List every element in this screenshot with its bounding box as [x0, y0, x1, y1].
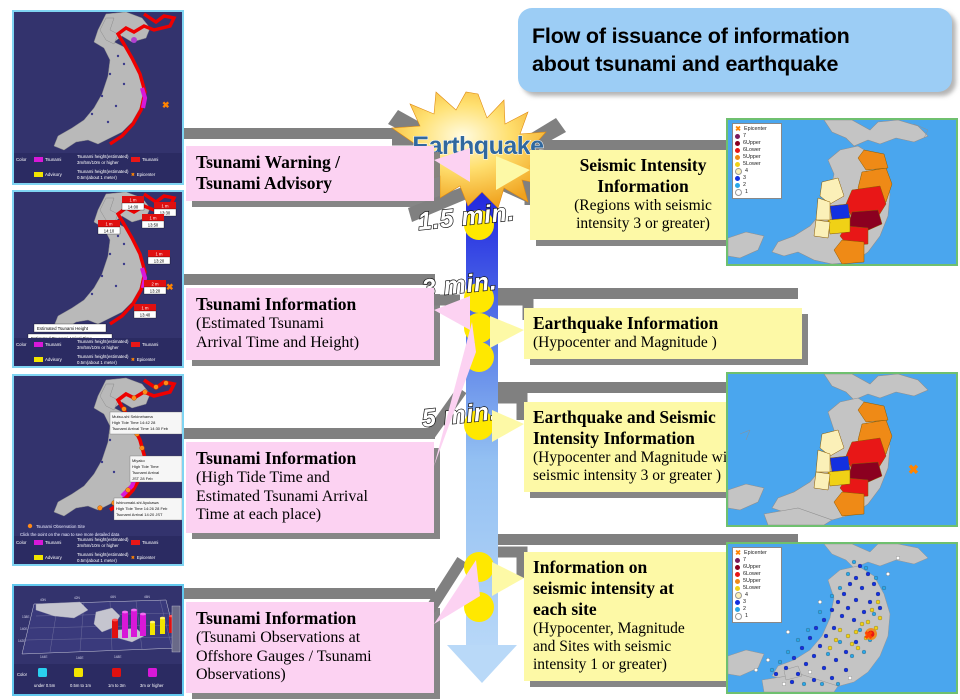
site-intensity-sub-3: intensity 1 or greater) [533, 656, 741, 674]
seismic-intensity-sub-2: intensity 3 or greater) [539, 215, 747, 233]
svg-text:1m to 3m: 1m to 3m [108, 683, 126, 688]
svg-text:46N: 46N [144, 595, 151, 599]
seismic-intensity-heading-2: Information [539, 176, 747, 197]
svg-text:Tsunami Arrival: Tsunami Arrival [132, 470, 159, 475]
svg-text:Tsunami Arrival Time 14:30 Feb: Tsunami Arrival Time 14:30 Feb [112, 426, 169, 431]
legend-entry-epicenter: Epicenter [744, 125, 767, 134]
tsunami-warning-heading-2: Tsunami Advisory [196, 173, 424, 194]
svg-text:13:50: 13:50 [148, 223, 159, 228]
site-intensity-info-box: Information on seismic intensity at each… [524, 552, 750, 681]
svg-text:14:00: 14:00 [128, 205, 139, 210]
legend2-desc-advisory: Tsunami height(estimated) 0.5m(about 1 m… [77, 354, 129, 365]
legend2-swatch-warning [131, 342, 140, 347]
site-intensity-heading-3: each site [533, 599, 741, 620]
legend-color-header: Color [16, 157, 32, 163]
svg-text:1 m: 1 m [162, 204, 169, 209]
legend2-swatch-major [34, 342, 43, 347]
legend2-swatch-6u [735, 565, 740, 570]
seismic-intensity-sub-1: (Regions with seismic [539, 197, 747, 215]
svg-text:1 m: 1 m [130, 198, 137, 203]
tsunami-info-estimated-sub-2: Arrival Time and Height) [196, 334, 424, 353]
legend3-swatch-major [34, 540, 43, 545]
legend-label-epicenter: Epicenter [137, 172, 156, 178]
legend3-label-epicenter: Epicenter [137, 555, 156, 561]
svg-text:13:20: 13:20 [150, 289, 161, 294]
intensity-legend-2: ✖Epicenter 7 6Upper 6Lower 5Upper 5Lower… [732, 547, 782, 623]
svg-text:Miyako: Miyako [132, 458, 145, 463]
tsunami-info-hightide-sub-3: Time at each place) [196, 506, 424, 525]
site-intensity-map: ✖ ✖Epicenter 7 6Upper 6Lower 5Upper 5Low… [726, 542, 958, 694]
tsunami-warning-map-thumb: ✖ Color Tsunami Tsunami height(estimated… [12, 10, 184, 185]
legend2-swatch-5u [735, 579, 740, 584]
svg-text:Mutsu-shi Sekinehama: Mutsu-shi Sekinehama [112, 414, 153, 419]
tsunami-info-observations-sub-2: Offshore Gauges / Tsunami [196, 648, 424, 667]
svg-text:Estimated Tsunami Height: Estimated Tsunami Height [37, 326, 89, 331]
svg-text:13:20: 13:20 [154, 259, 165, 264]
svg-text:Tsunami Observation Site: Tsunami Observation Site [36, 524, 86, 529]
offshore-gauge-plot: 40N42N 44N46N 138E140E 142E144E 146E148E… [14, 586, 182, 694]
earthquake-info-heading: Earthquake Information [533, 313, 793, 334]
legend3-swatch-warning [131, 540, 140, 545]
legend3-color-header: Color [16, 540, 32, 546]
legend2-desc-major: Tsunami height(estimated) 3m/5m/10m or h… [77, 339, 129, 350]
legend2-label-major: Tsunami [45, 342, 75, 348]
legend-swatch-6l [735, 148, 740, 153]
svg-text:138E: 138E [22, 615, 29, 619]
legend3-label-advisory: Advisory [45, 555, 75, 561]
svg-text:42N: 42N [74, 596, 81, 600]
timeline-arrow-icon [447, 645, 517, 683]
tsunami-info-observations-sub-3: Observations) [196, 666, 424, 685]
legend-label-warning: Tsunami [142, 157, 158, 163]
legend-swatch-warning [131, 157, 140, 162]
tsunami-info-hightide-sub-1: (High Tide Time and [196, 469, 424, 488]
legend-label-major: Tsunami [45, 157, 75, 163]
timeline-dot-4 [464, 342, 494, 372]
svg-text:Ishinomaki-shi Ayukawa: Ishinomaki-shi Ayukawa [116, 500, 159, 505]
seismic-intensity-info-box: Seismic Intensity Information (Regions w… [530, 150, 756, 240]
timeline-dot-7 [464, 592, 494, 622]
timeline-dot-6 [464, 552, 494, 582]
svg-text:14:10: 14:10 [104, 229, 115, 234]
legend3-label-warning: Tsunami [142, 540, 158, 546]
legend2-swatch-4 [735, 592, 742, 599]
legend-swatch-4 [735, 168, 742, 175]
legend-swatch-6u [735, 141, 740, 146]
svg-text:Color: Color [17, 672, 28, 677]
legend-swatch-major [34, 157, 43, 162]
legend-swatch-7 [735, 134, 740, 139]
legend-swatch-advisory [34, 172, 43, 177]
svg-text:140E: 140E [20, 627, 27, 631]
earthquake-info-box: Earthquake Information (Hypocenter and M… [524, 308, 802, 359]
svg-text:2 m: 2 m [152, 282, 159, 287]
tsunami-warning-heading-1: Tsunami Warning / [196, 152, 424, 173]
timeline-dot-3 [464, 313, 494, 343]
svg-text:High Tide Time 14:42 28: High Tide Time 14:42 28 [112, 420, 156, 425]
legend2-epicenter-x-icon: ✖ [735, 551, 741, 557]
svg-text:1 m: 1 m [156, 252, 163, 257]
epicenter-cluster-x-icon: ✖ [864, 630, 873, 642]
svg-text:3m or higher: 3m or higher [140, 683, 164, 688]
page-title-line1: Flow of issuance of information [532, 22, 850, 50]
seismic-intensity-region-map: ✖Epicenter 7 6Upper 6Lower 5Upper 5Lower… [726, 118, 958, 266]
svg-text:1 m: 1 m [142, 306, 149, 311]
tsunami-info-hightide-sub-2: Estimated Tsunami Arrival [196, 488, 424, 507]
svg-text:1 m: 1 m [106, 222, 113, 227]
legend2-label-epicenter: Epicenter [137, 357, 156, 363]
page-title: Flow of issuance of information about ts… [518, 8, 952, 92]
tsunami-info-estimated-box: Tsunami Information (Estimated Tsunami A… [186, 288, 434, 360]
svg-text:0.5m to 1m: 0.5m to 1m [70, 683, 91, 688]
svg-text:JST 28 Feb: JST 28 Feb [132, 476, 153, 481]
site-intensity-sub-2: and Sites with seismic [533, 638, 741, 656]
site-intensity-heading-2: seismic intensity at [533, 578, 741, 599]
svg-text:13:40: 13:40 [140, 313, 151, 318]
legend2-label-advisory: Advisory [45, 357, 75, 363]
legend3-desc-major: Tsunami height(estimated) 3m/5m/10m or h… [77, 537, 129, 548]
site-intensity-sub-1: (Hypocenter, Magnitude [533, 620, 741, 638]
svg-text:High Tide Time 14:26 28 Feb: High Tide Time 14:26 28 Feb [116, 506, 168, 511]
legend2-label-warning: Tsunami [142, 342, 158, 348]
legend2-swatch-advisory [34, 357, 43, 362]
legend-desc-major: Tsunami height(estimated) 3m/5m/10m or h… [77, 154, 129, 165]
legend2-epicenter-icon: ✖ [131, 357, 135, 363]
legend2-swatch-3 [735, 600, 740, 605]
legend2-swatch-5l [735, 586, 740, 591]
svg-text:148E: 148E [114, 655, 121, 659]
tsunami-info-observations-sub-1: (Tsunami Observations at [196, 629, 424, 648]
legend2-entry-1: 1 [745, 612, 748, 621]
intensity-legend-1: ✖Epicenter 7 6Upper 6Lower 5Upper 5Lower… [732, 123, 782, 199]
tsunami-info-hightide-box: Tsunami Information (High Tide Time and … [186, 442, 434, 533]
site-intensity-heading-1: Information on [533, 557, 741, 578]
legend2-swatch-6l [735, 572, 740, 577]
svg-text:under 0.5m: under 0.5m [34, 683, 56, 688]
hypocenter-region-map: ✖ [728, 374, 956, 525]
tsunami-info-estimated-heading: Tsunami Information [196, 294, 424, 315]
seismic-intensity-heading-1: Seismic Intensity [539, 155, 747, 176]
earthquake-seismic-region-map: ✖ [726, 372, 958, 527]
legend-swatch-1 [735, 189, 742, 196]
legend3-label-major: Tsunami [45, 540, 75, 546]
svg-text:High Tide Time: High Tide Time [132, 464, 159, 469]
legend-desc-advisory: Tsunami height(estimated) 0.5m(about 1 m… [77, 169, 129, 180]
svg-text:144E: 144E [40, 655, 47, 659]
tsunami-estimated-map-thumb: ✖ 1 m 14:00 1 m 13:30 1 m 13:50 1 m 14:1… [12, 190, 184, 368]
legend2-color-header: Color [16, 342, 32, 348]
legend-entry-1: 1 [745, 188, 748, 197]
legend-swatch-2 [735, 183, 740, 188]
legend-swatch-5l [735, 162, 740, 167]
legend3-desc-advisory: Tsunami height(estimated) 0.5m(about 1 m… [77, 552, 129, 563]
legend2-entry-epicenter: Epicenter [744, 549, 767, 558]
legend-label-advisory: Advisory [45, 172, 75, 178]
svg-text:✖: ✖ [166, 282, 174, 292]
tsunami-warning-box: Tsunami Warning / Tsunami Advisory [186, 146, 434, 201]
svg-text:44N: 44N [110, 595, 117, 599]
legend3-swatch-advisory [34, 555, 43, 560]
svg-text:40N: 40N [40, 598, 47, 602]
tsunami-info-hightide-heading: Tsunami Information [196, 448, 424, 469]
tsunami-hightide-map-thumb: Mutsu-shi Sekinehama High Tide Time 14:4… [12, 374, 184, 566]
svg-text:142E: 142E [18, 639, 25, 643]
legend2-swatch-1 [735, 613, 742, 620]
diagram-canvas: Flow of issuance of information about ts… [0, 0, 960, 700]
svg-text:1 m: 1 m [150, 216, 157, 221]
earthquake-info-sub: (Hypocenter and Magnitude ) [533, 334, 793, 352]
svg-text:✖: ✖ [162, 100, 170, 110]
svg-text:Tsunami Arrival 14:20 JST: Tsunami Arrival 14:20 JST [116, 512, 163, 517]
legend2-swatch-7 [735, 558, 740, 563]
svg-text:146E: 146E [76, 656, 83, 660]
legend-swatch-3 [735, 176, 740, 181]
tsunami-info-observations-box: Tsunami Information (Tsunami Observation… [186, 602, 434, 693]
tsunami-info-observations-heading: Tsunami Information [196, 608, 424, 629]
epicenter-x-marker: ✖ [908, 462, 919, 477]
legend-swatch-5u [735, 155, 740, 160]
legend-epicenter-x-icon: ✖ [735, 127, 741, 133]
legend2-swatch-2 [735, 607, 740, 612]
legend-epicenter-icon: ✖ [131, 172, 135, 178]
page-title-line2: about tsunami and earthquake [532, 50, 850, 78]
tsunami-info-estimated-sub-1: (Estimated Tsunami [196, 315, 424, 334]
offshore-gauge-plot-thumb: 40N42N 44N46N 138E140E 142E144E 146E148E… [12, 584, 184, 696]
legend3-epicenter-icon: ✖ [131, 555, 135, 561]
